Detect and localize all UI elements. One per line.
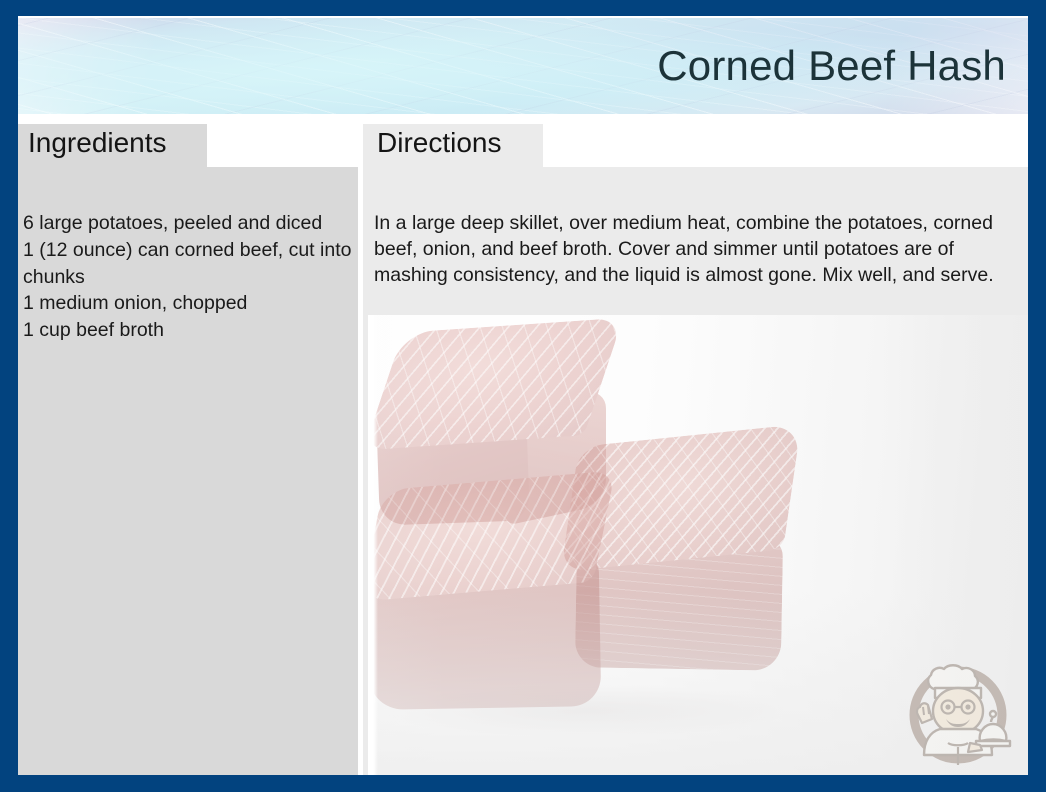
- ingredients-panel: 6 large potatoes, peeled and diced 1 (12…: [18, 167, 358, 775]
- ingredients-list: 6 large potatoes, peeled and diced 1 (12…: [23, 210, 353, 344]
- ingredients-heading: Ingredients: [28, 127, 167, 159]
- directions-column: Directions In a large deep skillet, over…: [363, 124, 1028, 775]
- header-banner: Corned Beef Hash: [18, 18, 1028, 114]
- directions-body: In a large deep skillet, over medium hea…: [374, 210, 1022, 288]
- ingredients-column: Ingredients 6 large potatoes, peeled and…: [18, 124, 358, 775]
- photo-left-white-edge: [368, 315, 378, 775]
- directions-panel: In a large deep skillet, over medium hea…: [363, 167, 1028, 775]
- slide-content-area: Corned Beef Hash Ingredients 6 large pot…: [18, 16, 1028, 775]
- chef-mascot-logo: [894, 643, 1022, 771]
- directions-heading: Directions: [377, 127, 501, 159]
- recipe-slide: Corned Beef Hash Ingredients 6 large pot…: [0, 0, 1046, 792]
- page-title: Corned Beef Hash: [657, 42, 1006, 90]
